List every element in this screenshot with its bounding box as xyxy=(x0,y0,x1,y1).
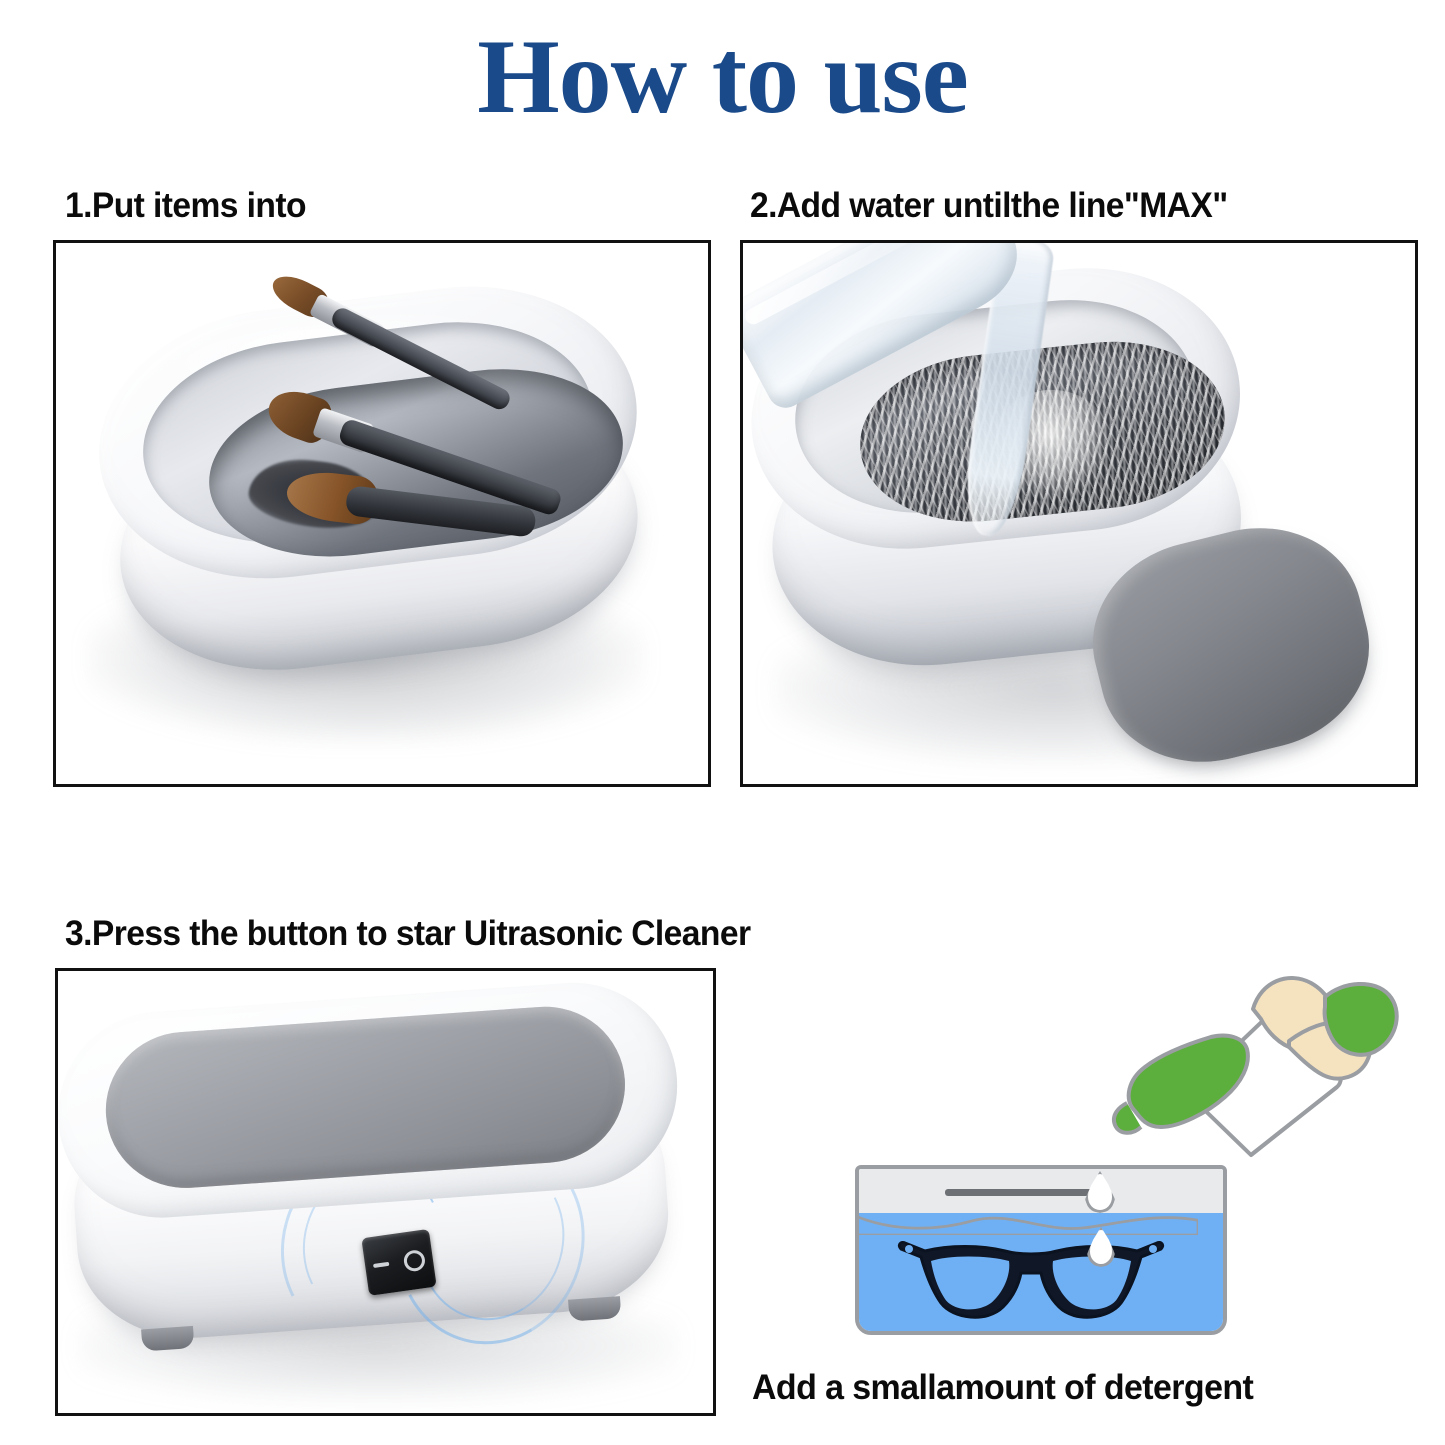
max-fill-line xyxy=(945,1189,1093,1196)
step-3-label: 3.Press the button to star Uitrasonic Cl… xyxy=(65,916,750,951)
cleaner-top-shell xyxy=(55,976,684,1225)
photo-panel-switch xyxy=(55,968,716,1416)
cleaner-lid xyxy=(101,1001,631,1193)
how-to-use-infographic: How to use 1.Put items into xyxy=(0,0,1445,1445)
switch-off-marker-icon xyxy=(373,1262,389,1268)
scene-press-button xyxy=(58,971,713,1413)
ultrasonic-cleaner-closed xyxy=(55,976,695,1378)
illustration-caption: Add a smallamount of detergent xyxy=(752,1370,1253,1405)
illustration-tank xyxy=(855,1165,1227,1335)
scene-pouring-water xyxy=(743,243,1415,784)
power-rocker-switch[interactable] xyxy=(361,1229,436,1296)
cleaner-foot-left xyxy=(141,1326,194,1352)
hand-with-detergent-bottle xyxy=(1075,975,1405,1190)
detergent-illustration: Add a smallamount of detergent xyxy=(845,975,1410,1365)
step-1-label: 1.Put items into xyxy=(65,188,306,223)
photo-panel-brushes xyxy=(53,240,711,787)
photo-panel-water xyxy=(740,240,1418,787)
cleaner-foot-right xyxy=(568,1296,621,1322)
ultrasonic-cleaner-open xyxy=(84,267,669,730)
step-2-label: 2.Add water untilthe line"MAX" xyxy=(750,188,1228,223)
page-title: How to use xyxy=(0,24,1445,130)
eyeglasses-icon xyxy=(891,1227,1191,1331)
scene-brushes-in-tub xyxy=(56,243,708,784)
switch-on-marker-icon xyxy=(403,1248,427,1272)
brush-handle xyxy=(329,305,513,413)
